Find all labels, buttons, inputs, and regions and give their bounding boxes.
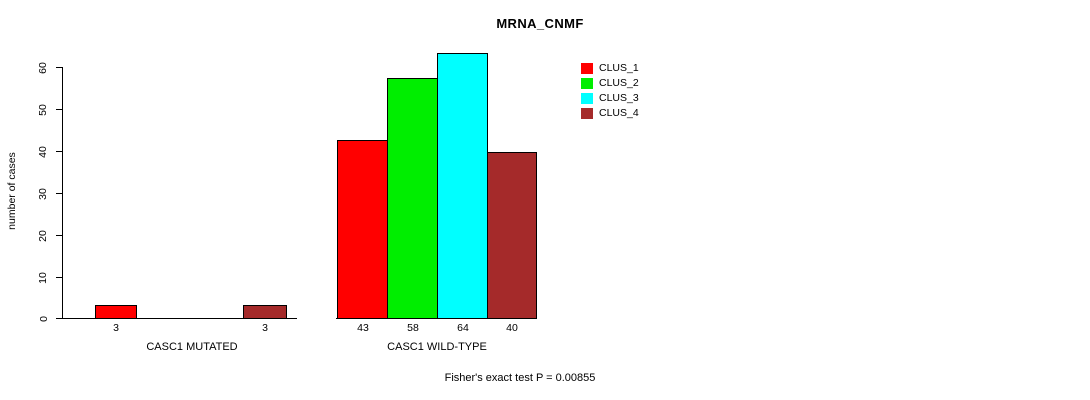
bar-value-group2-clus4: 40 <box>496 322 528 334</box>
legend-label-clus1: CLUS_1 <box>599 63 639 74</box>
group-label-wildtype: CASC1 WILD-TYPE <box>357 341 517 353</box>
y-tick-label-60: 60 <box>37 55 49 81</box>
legend-label-clus4: CLUS_4 <box>599 108 639 119</box>
y-tick-50 <box>56 109 62 110</box>
y-tick-label-40: 40 <box>37 139 49 165</box>
y-tick-label-30: 30 <box>37 181 49 207</box>
bar-value-group1-clus1: 3 <box>100 322 132 334</box>
y-tick-40 <box>56 151 62 152</box>
y-tick-label-10: 10 <box>37 265 49 291</box>
y-tick-label-0: 0 <box>38 306 50 332</box>
legend-swatch-clus2 <box>581 78 593 89</box>
legend-swatch-clus4 <box>581 108 593 119</box>
y-axis-line <box>62 67 63 319</box>
bar-group1-clus1 <box>95 305 137 319</box>
chart-plot-area: MRNA_CNMF number of cases 60 50 40 30 20… <box>0 0 1090 400</box>
y-tick-60 <box>56 67 62 68</box>
bar-group1-clus4 <box>243 305 287 319</box>
legend-label-clus3: CLUS_3 <box>599 93 639 104</box>
group-label-mutated: CASC1 MUTATED <box>112 341 272 353</box>
bar-value-group1-clus4: 3 <box>249 322 281 334</box>
legend-item-clus3: CLUS_3 <box>581 91 639 106</box>
y-tick-label-50: 50 <box>37 97 49 123</box>
bar-value-group2-clus2: 58 <box>397 322 429 334</box>
legend: CLUS_1 CLUS_2 CLUS_3 CLUS_4 <box>581 61 639 121</box>
legend-item-clus1: CLUS_1 <box>581 61 639 76</box>
y-tick-20 <box>56 235 62 236</box>
legend-swatch-clus3 <box>581 93 593 104</box>
bar-group2-clus2 <box>387 78 438 319</box>
fisher-test-annotation: Fisher's exact test P = 0.00855 <box>390 372 650 384</box>
y-tick-30 <box>56 193 62 194</box>
bar-value-group2-clus3: 64 <box>447 322 479 334</box>
chart-title: MRNA_CNMF <box>0 16 1085 31</box>
legend-swatch-clus1 <box>581 63 593 74</box>
legend-label-clus2: CLUS_2 <box>599 78 639 89</box>
bar-value-group2-clus1: 43 <box>347 322 379 334</box>
legend-item-clus2: CLUS_2 <box>581 76 639 91</box>
y-tick-10 <box>56 277 62 278</box>
y-axis-label: number of cases <box>6 131 18 251</box>
bar-group2-clus4 <box>487 152 537 319</box>
bar-group2-clus1 <box>337 140 388 319</box>
legend-item-clus4: CLUS_4 <box>581 106 639 121</box>
y-tick-label-20: 20 <box>37 223 49 249</box>
bar-group2-clus3 <box>437 53 488 319</box>
